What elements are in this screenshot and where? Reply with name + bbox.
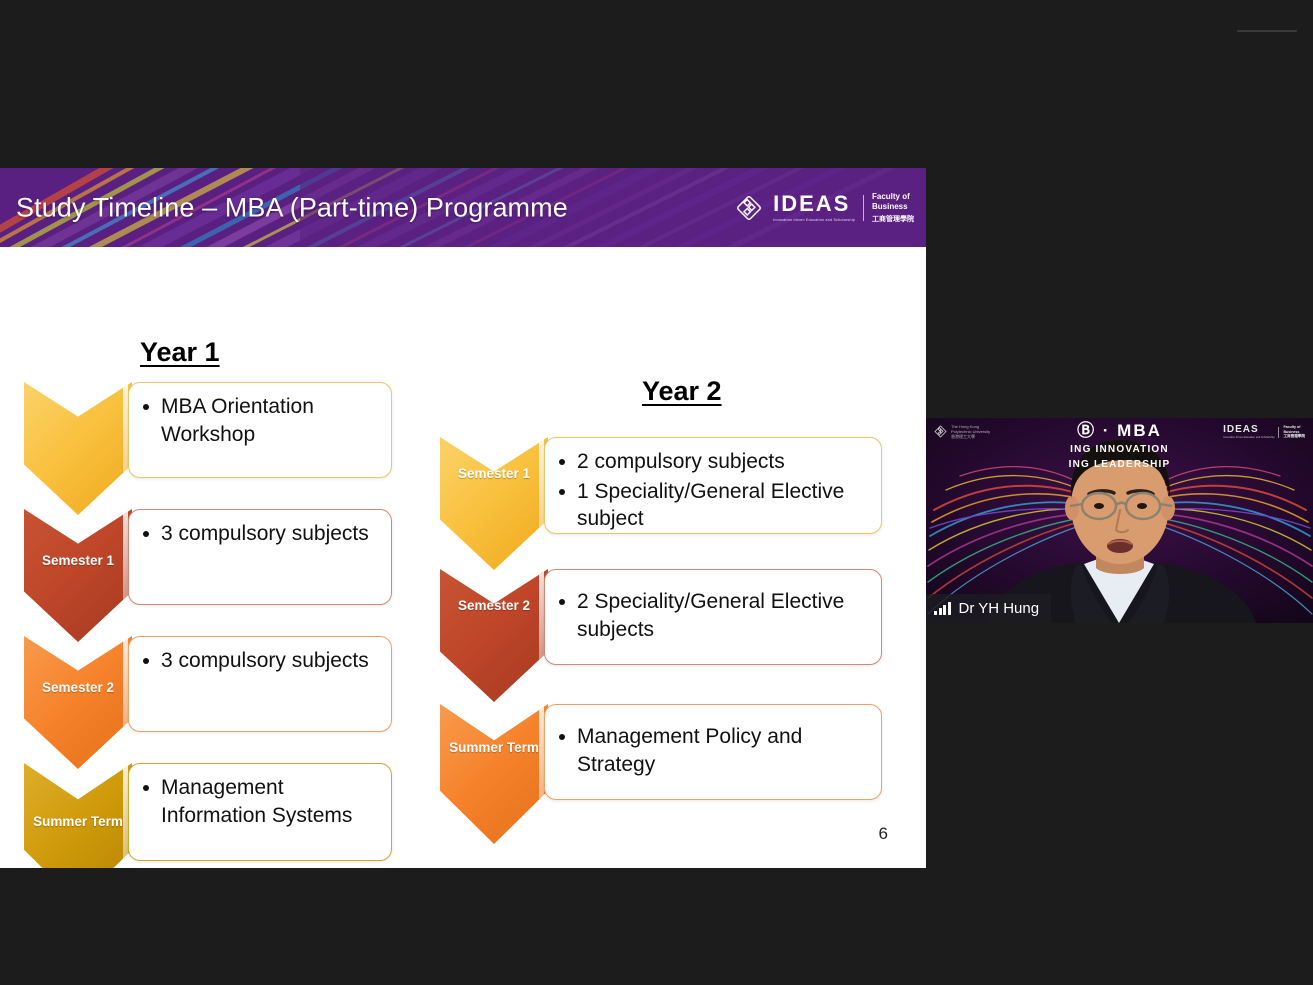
ideas-diamond-icon [734, 193, 764, 223]
bullet-item: Management Information Systems [139, 774, 377, 829]
timeline-row: Semester 1 3 compulsory subjects [24, 509, 392, 642]
bullet-item: 3 compulsory subjects [139, 520, 377, 548]
bullet-list: Management Policy and Strategy [555, 723, 867, 778]
participant-name-bar: Dr YH Hung [926, 594, 1051, 623]
presentation-slide: Study Timeline – MBA (Part-time) Program… [0, 168, 926, 868]
chevron-label: Summer Term [33, 814, 123, 830]
timeline-info-box: Management Policy and Strategy [544, 704, 882, 800]
faculty-line-1: Faculty of [872, 192, 914, 202]
mba-tagline-line-1: ING INNOVATION [1069, 443, 1171, 457]
polyu-mark-icon [934, 425, 947, 438]
collapsed-toolbar-hint[interactable] [1237, 30, 1297, 32]
chevron-label: Semester 2 [458, 598, 530, 614]
slide-header: Study Timeline – MBA (Part-time) Program… [0, 168, 926, 247]
timeline-chevron: Summer Term [24, 763, 132, 868]
mba-wordmark: Ⓑ · MBA [1069, 422, 1171, 441]
timeline-info-box: MBA Orientation Workshop [128, 382, 392, 478]
participant-name: Dr YH Hung [959, 600, 1040, 617]
ideas-logo: IDEAS Innovation driven Education and Sc… [734, 192, 914, 224]
bullet-item: MBA Orientation Workshop [139, 393, 377, 448]
mba-background-title: Ⓑ · MBA ING INNOVATION ING LEADERSHIP [1069, 422, 1171, 472]
slide-body: Year 1 Year 2 MBA Orientation Workshop S… [0, 247, 926, 868]
timeline-info-box: 2 Speciality/General Elective subjects [544, 569, 882, 665]
faculty-chinese-background: 工商管理學院 [1283, 434, 1305, 439]
bullet-list: Management Information Systems [139, 774, 377, 829]
year-1-heading: Year 1 [140, 337, 220, 368]
participant-video-tile[interactable]: The Hong Kong Polytechnic University 香港理… [926, 418, 1313, 623]
bullet-item: 3 compulsory subjects [139, 647, 377, 675]
logo-divider [1278, 427, 1279, 438]
timeline-row: Semester 2 2 Speciality/General Elective… [440, 569, 882, 702]
polyu-name-chinese: 香港理工大學 [951, 434, 990, 439]
slide-number: 6 [879, 824, 888, 844]
ideas-wordmark: IDEAS [773, 193, 855, 215]
chevron-label: Semester 2 [42, 680, 114, 696]
timeline-row: MBA Orientation Workshop [24, 382, 392, 515]
ideas-logo-background: IDEAS Innovation driven Education and Sc… [1223, 425, 1305, 439]
bullet-list: 3 compulsory subjects [139, 520, 377, 548]
timeline-info-box: Management Information Systems [128, 763, 392, 861]
bullet-item: 2 compulsory subjects [555, 448, 867, 476]
bullet-item: 1 Speciality/General Elective subject [555, 478, 867, 533]
timeline-row: Summer Term Management Policy and Strate… [440, 704, 882, 844]
ideas-tagline-background: Innovation driven Education and Scholars… [1223, 436, 1274, 439]
timeline-info-box: 3 compulsory subjects [128, 636, 392, 732]
ideas-tagline: Innovation driven Education and Scholars… [773, 218, 855, 223]
timeline-info-box: 3 compulsory subjects [128, 509, 392, 605]
timeline-row: Semester 1 2 compulsory subjects 1 Speci… [440, 437, 882, 570]
slide-title: Study Timeline – MBA (Part-time) Program… [16, 192, 568, 223]
timeline-chevron: Semester 2 [24, 636, 132, 769]
bullet-item: Management Policy and Strategy [555, 723, 867, 778]
ideas-wordmark-background: IDEAS [1223, 425, 1274, 435]
faculty-chinese: 工商管理學院 [872, 214, 914, 224]
signal-bars-icon [934, 602, 951, 615]
chevron-label: Summer Term [449, 740, 539, 756]
screen-root: Study Timeline – MBA (Part-time) Program… [0, 0, 1313, 985]
bullet-list: MBA Orientation Workshop [139, 393, 377, 448]
timeline-row: Summer Term Management Information Syste… [24, 763, 392, 868]
faculty-line-2: Business [872, 202, 914, 212]
polyu-logo: The Hong Kong Polytechnic University 香港理… [934, 424, 990, 440]
bullet-item: 2 Speciality/General Elective subjects [555, 588, 867, 643]
year-2-heading: Year 2 [642, 376, 722, 407]
logo-divider [863, 195, 864, 221]
chevron-label: Semester 1 [458, 466, 530, 482]
timeline-chevron: Summer Term [440, 704, 548, 844]
bullet-list: 2 compulsory subjects 1 Speciality/Gener… [555, 448, 867, 533]
bullet-list: 3 compulsory subjects [139, 647, 377, 675]
mba-tagline-line-2: ING LEADERSHIP [1069, 458, 1171, 472]
timeline-row: Semester 2 3 compulsory subjects [24, 636, 392, 769]
bullet-list: 2 Speciality/General Elective subjects [555, 588, 867, 643]
timeline-chevron: Semester 2 [440, 569, 548, 702]
chevron-label: Semester 1 [42, 553, 114, 569]
timeline-chevron: Semester 1 [440, 437, 548, 570]
timeline-chevron [24, 382, 132, 515]
timeline-info-box: 2 compulsory subjects 1 Speciality/Gener… [544, 437, 882, 534]
timeline-chevron: Semester 1 [24, 509, 132, 642]
